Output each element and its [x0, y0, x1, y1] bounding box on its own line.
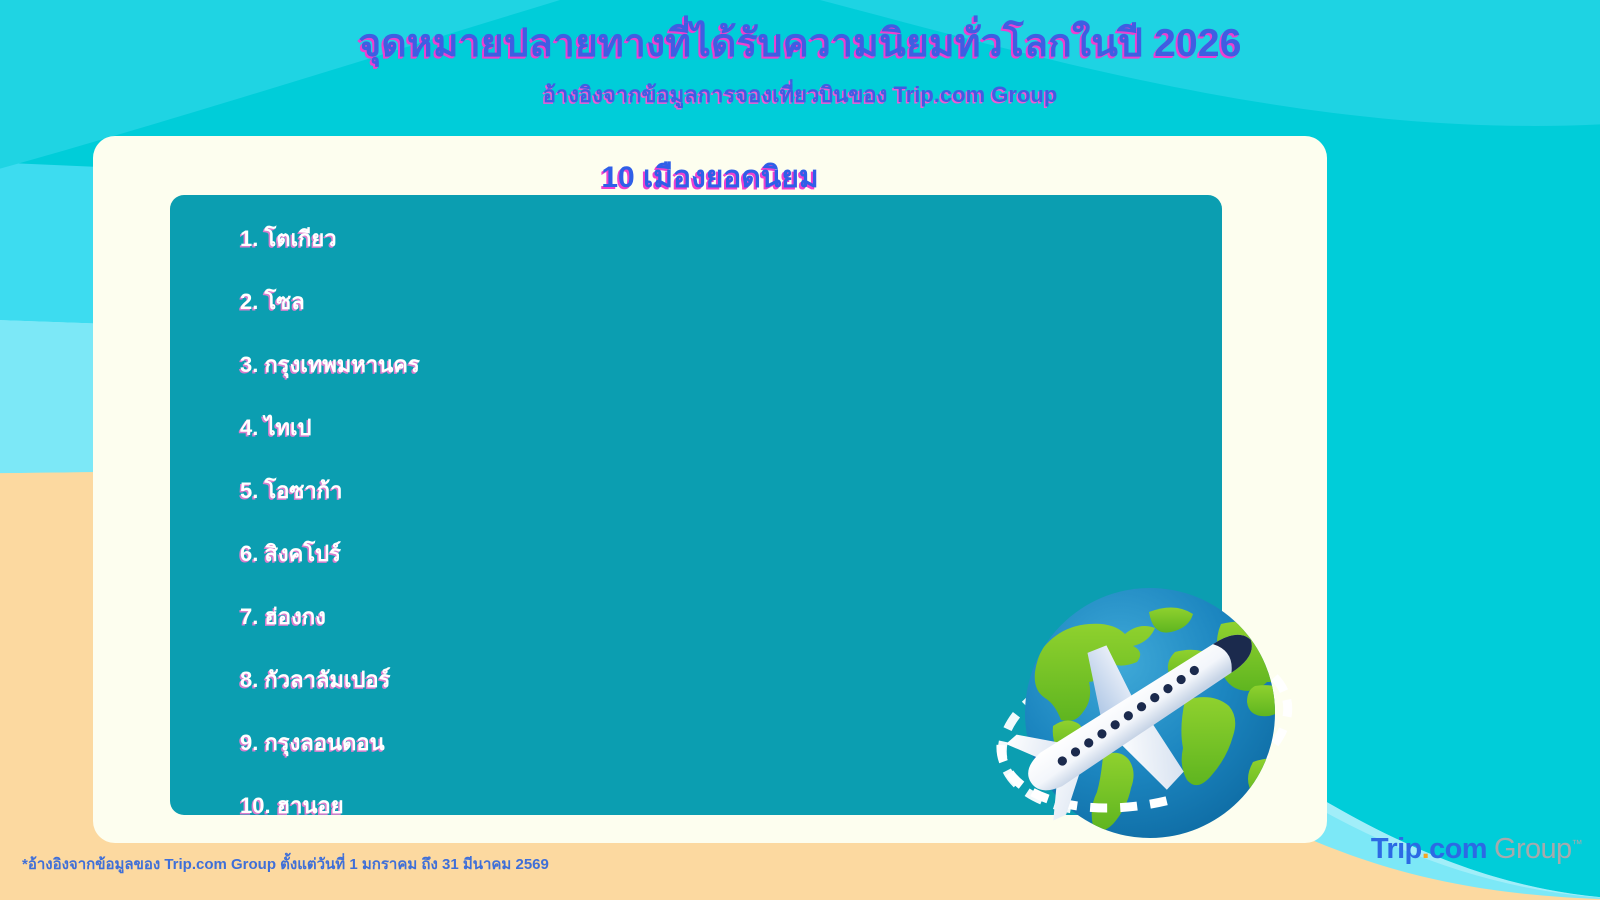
page-subtitle: อ้างอิงจากข้อมูลการจองเที่ยวบินของ Trip.…	[0, 65, 1600, 112]
list-item: 3. กรุงเทพมหานคร	[240, 343, 1222, 406]
list-item: 5. โอซาก้า	[240, 469, 1222, 532]
section-heading: 10 เมืองยอดนิยม	[93, 154, 1327, 201]
footnote: *อ้างอิงจากข้อมูลของ Trip.com Group ตั้ง…	[22, 852, 549, 876]
logo-trip-text: Trip	[1371, 833, 1422, 865]
header: จุดหมายปลายทางที่ได้รับความนิยมทั่วโลกใน…	[0, 0, 1600, 112]
logo-trademark: ™	[1572, 838, 1582, 850]
logo-com-text: com	[1429, 833, 1487, 865]
logo-group-text: Group	[1494, 833, 1572, 865]
list-item: 2. โซล	[240, 280, 1222, 343]
infographic-canvas: จุดหมายปลายทางที่ได้รับความนิยมทั่วโลกใน…	[0, 0, 1600, 900]
trip-com-group-logo: Trip.comGroup™	[1371, 833, 1582, 866]
globe-airplane-illustration	[935, 540, 1335, 865]
page-title: จุดหมายปลายทางที่ได้รับความนิยมทั่วโลกใน…	[0, 0, 1600, 65]
list-item: 4. ไทเป	[240, 406, 1222, 469]
list-item: 1. โตเกียว	[240, 217, 1222, 280]
